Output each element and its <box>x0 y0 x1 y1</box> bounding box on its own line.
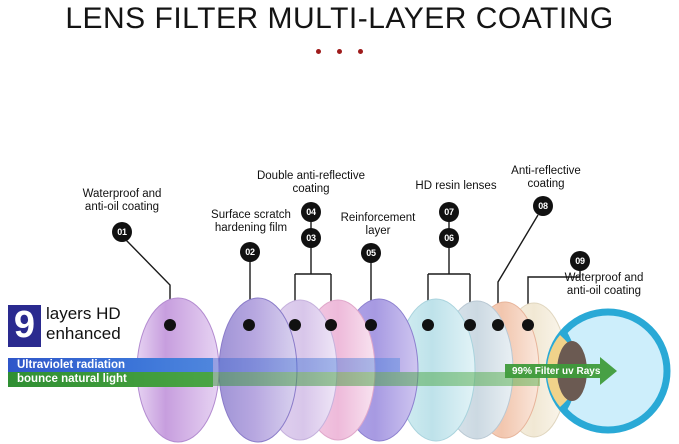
callout-09-line1: Waterproof and <box>538 272 670 285</box>
connector-dot-08 <box>492 319 504 331</box>
badge-06[interactable]: 06 <box>440 229 458 247</box>
callout-05-line2: layer <box>323 225 433 238</box>
callout-09-line2: anti-oil coating <box>538 285 670 298</box>
connector-dot-05 <box>365 319 377 331</box>
callout-08-line1: Anti-reflective <box>492 165 600 178</box>
natural-light-bar: bounce natural light <box>8 372 213 387</box>
connector-dot-01 <box>164 319 176 331</box>
badge-02[interactable]: 02 <box>241 243 259 261</box>
connector-dot-09 <box>522 319 534 331</box>
badge-03[interactable]: 03 <box>302 229 320 247</box>
badge-01[interactable]: 01 <box>113 223 131 241</box>
lens-coating-diagram: Waterproof and anti-oil coating Surface … <box>0 0 679 444</box>
connector-dot-07 <box>464 319 476 331</box>
callout-02-line2: hardening film <box>186 222 316 235</box>
callout-02-line1: Surface scratch <box>186 209 316 222</box>
nine-layers-line1: layers HD <box>46 304 121 324</box>
uv-radiation-bar: Ultraviolet radiation <box>8 358 213 373</box>
connector-dot-02 <box>243 319 255 331</box>
callout-label-05: Reinforcement layer <box>323 212 433 238</box>
uv-filter-arrow-label: 99% Filter uv Rays <box>512 366 612 378</box>
callout-04-line1: Double anti-reflective <box>241 170 381 183</box>
nine-layers-block: 9 layers HD enhanced <box>8 305 148 351</box>
badge-07[interactable]: 07 <box>440 203 458 221</box>
badge-05[interactable]: 05 <box>362 244 380 262</box>
callout-01-line1: Waterproof and <box>57 188 187 201</box>
nine-numeral: 9 <box>8 305 41 347</box>
badge-04[interactable]: 04 <box>302 203 320 221</box>
callout-label-04: Double anti-reflective coating <box>241 170 381 196</box>
nine-layers-line2: enhanced <box>46 324 121 344</box>
badge-08[interactable]: 08 <box>534 197 552 215</box>
connector-dot-03 <box>289 319 301 331</box>
badge-09[interactable]: 09 <box>571 252 589 270</box>
callout-label-02: Surface scratch hardening film <box>186 209 316 235</box>
connector-dot-04 <box>325 319 337 331</box>
callout-01-line2: anti-oil coating <box>57 201 187 214</box>
nine-layers-text: layers HD enhanced <box>46 304 121 344</box>
callout-04-line2: coating <box>241 183 381 196</box>
callout-label-01: Waterproof and anti-oil coating <box>57 188 187 214</box>
callout-08-line2: coating <box>492 178 600 191</box>
callout-label-09: Waterproof and anti-oil coating <box>538 272 670 298</box>
connector-dot-06 <box>422 319 434 331</box>
callout-label-08: Anti-reflective coating <box>492 165 600 191</box>
callout-05-line1: Reinforcement <box>323 212 433 225</box>
